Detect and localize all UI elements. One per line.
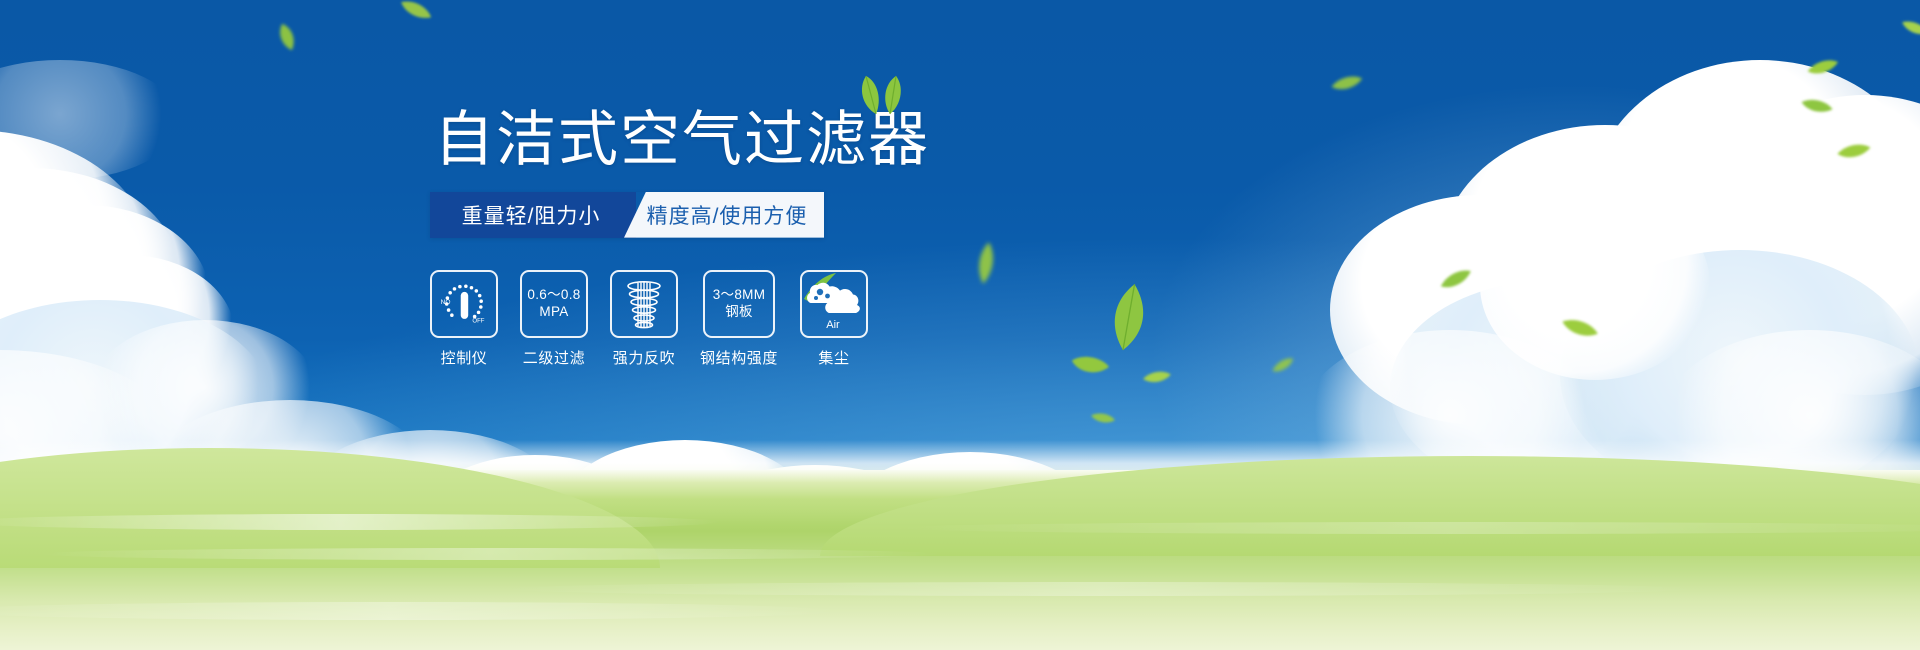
pressure-text-icon: 0.6～0.8MPA	[527, 287, 580, 320]
title-sprout-leaves-icon	[852, 74, 912, 116]
air-label: Air	[826, 319, 840, 331]
subtitle-tab-1[interactable]: 精度高/使用方便	[624, 192, 824, 238]
steel-plate-text-icon: 3～8MM钢板	[713, 287, 766, 320]
svg-text:OFF: OFF	[472, 318, 484, 324]
page-title: 自洁式空气过滤器	[434, 108, 930, 172]
feature-item-pressure[interactable]: 0.6～0.8MPA 二级过滤	[520, 270, 588, 368]
subtitle-tab-0[interactable]: 重量轻/阻力小	[430, 192, 636, 238]
air-cloud-icon: Air	[802, 273, 866, 335]
feature-icon-box: 0.6～0.8MPA	[520, 270, 588, 338]
feature-caption: 二级过滤	[523, 347, 585, 368]
feature-item-backblow[interactable]: 强力反吹	[610, 270, 678, 368]
banner-hero: 自洁式空气过滤器 重量轻/阻力小 精度高/使用方便	[0, 0, 1920, 650]
svg-text:NO: NO	[441, 299, 451, 306]
title-block: 自洁式空气过滤器	[430, 108, 930, 172]
feature-icon-box	[610, 270, 678, 338]
feature-caption: 控制仪	[441, 347, 488, 368]
feature-icon-box: 3～8MM钢板	[703, 270, 775, 338]
subtitle-tabs: 重量轻/阻力小 精度高/使用方便	[430, 192, 824, 238]
filter-coil-icon	[619, 278, 669, 330]
feature-list: NO OFF 控制仪 0.6～0.8MPA 二级过滤	[430, 270, 1070, 368]
feature-caption: 钢结构强度	[700, 347, 778, 368]
feature-item-steel[interactable]: 3～8MM钢板 钢结构强度	[700, 270, 778, 368]
grass-field	[0, 470, 1920, 650]
feature-caption: 强力反吹	[613, 347, 675, 368]
banner-content: 自洁式空气过滤器 重量轻/阻力小 精度高/使用方便	[430, 108, 1070, 368]
feature-item-control[interactable]: NO OFF 控制仪	[430, 270, 498, 368]
feature-item-dust[interactable]: Air 集尘	[800, 270, 868, 368]
feature-caption: 集尘	[818, 347, 849, 368]
feature-icon-box: Air	[800, 270, 868, 338]
control-dial-icon: NO OFF	[436, 276, 492, 332]
feature-icon-box: NO OFF	[430, 270, 498, 338]
